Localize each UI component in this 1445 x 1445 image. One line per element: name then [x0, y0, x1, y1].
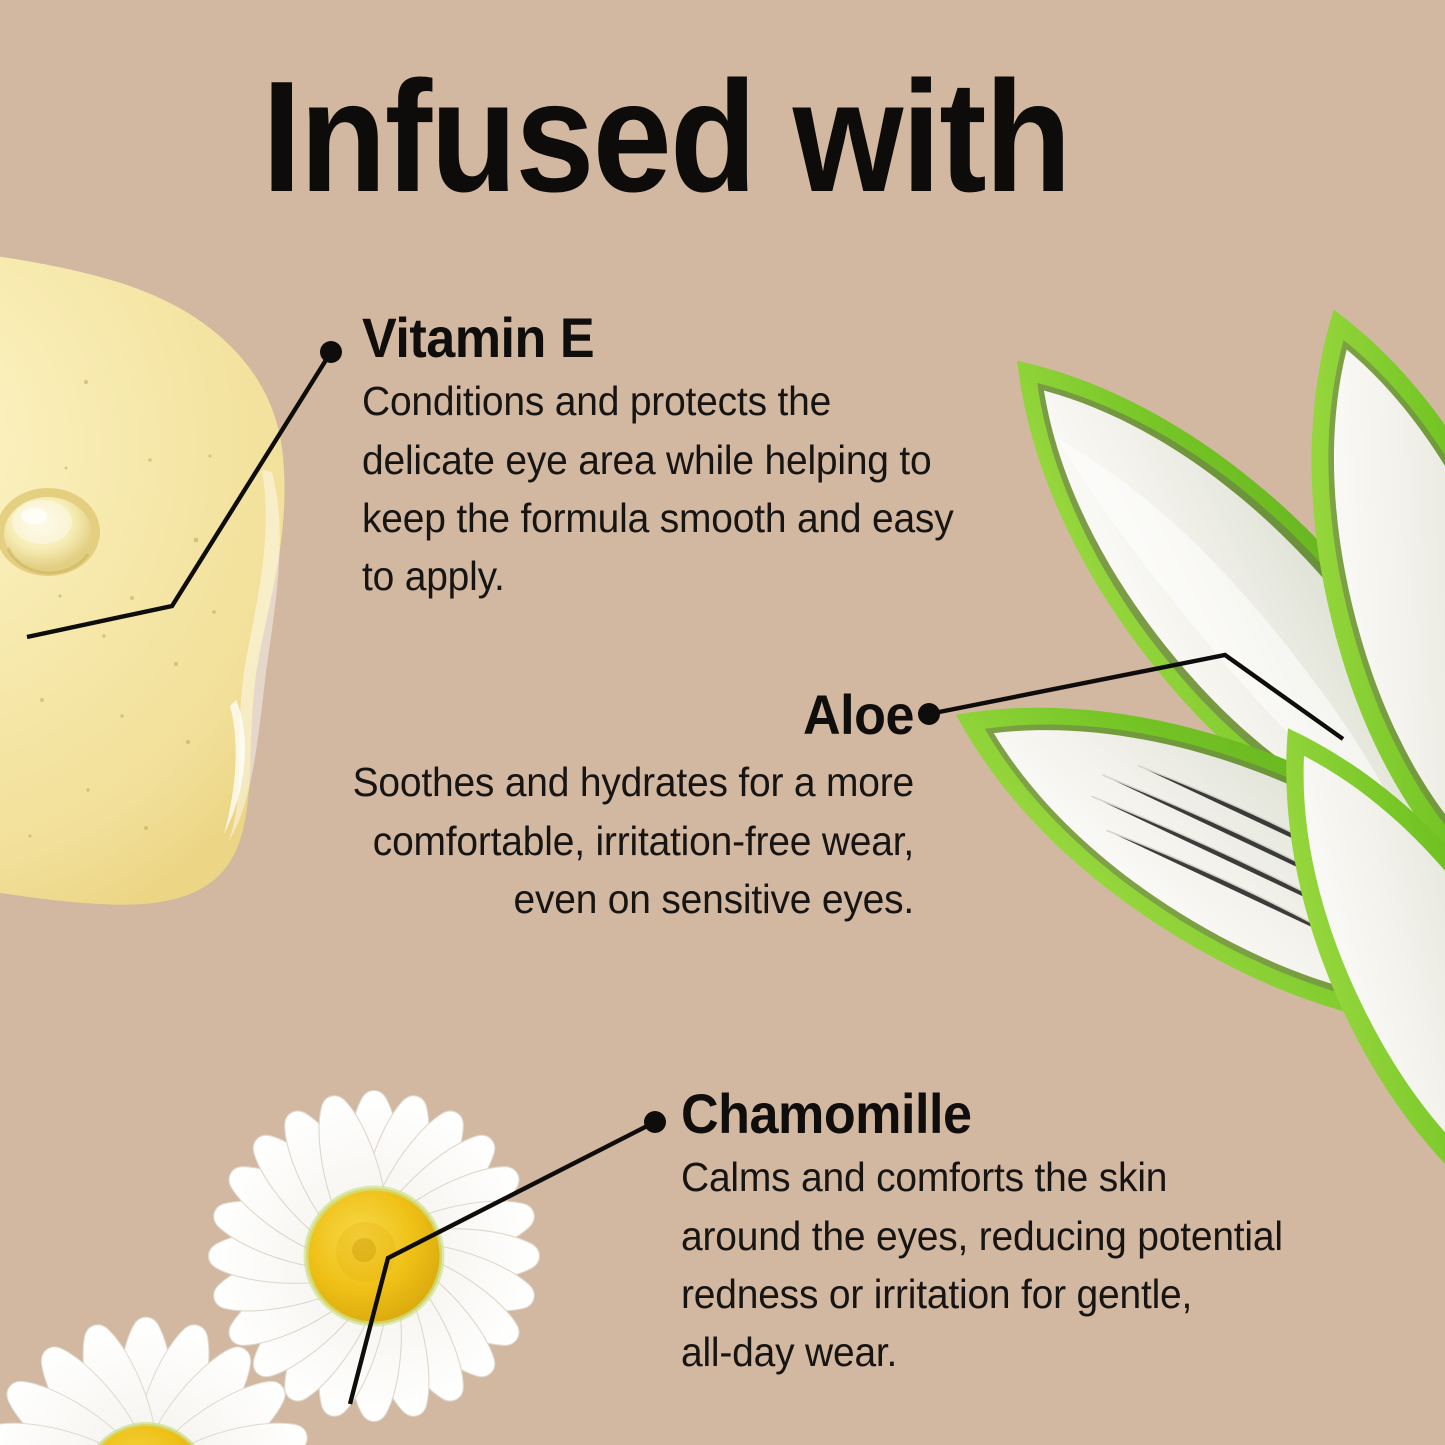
desc-line: redness or irritation for gentle, — [681, 1265, 1327, 1323]
vitamin-e-leader-dot — [320, 341, 342, 363]
ingredient-name-chamomille: Chamomille — [681, 1084, 1313, 1144]
desc-line: around the eyes, reducing potential — [681, 1207, 1327, 1265]
serum-drop-art — [0, 248, 285, 905]
desc-line: delicate eye area while helping to — [362, 431, 1008, 489]
page-title: Infused with — [262, 58, 1070, 216]
desc-line: Conditions and protects the — [362, 372, 1008, 430]
desc-line: comfortable, irritation-free wear, — [331, 812, 914, 870]
aloe-leader-dot — [918, 703, 940, 725]
ingredient-block-aloe: Aloe Soothes and hydrates for a more com… — [300, 685, 914, 928]
desc-line: all-day wear. — [681, 1323, 1327, 1381]
ingredient-description-aloe: Soothes and hydrates for a more comforta… — [331, 753, 914, 928]
desc-line: keep the formula smooth and easy — [362, 489, 1008, 547]
infused-with-infographic: Infused with Vitamin E Conditions and pr… — [0, 0, 1445, 1445]
chamomile-flowers-art — [0, 1089, 541, 1445]
chamomille-leader-dot — [644, 1111, 666, 1133]
ingredient-name-aloe: Aloe — [343, 685, 914, 745]
ingredient-block-chamomille: Chamomille Calms and comforts the skin a… — [681, 1084, 1361, 1381]
ingredient-name-vitamin-e: Vitamin E — [362, 308, 994, 368]
desc-line: even on sensitive eyes. — [331, 870, 914, 928]
ingredient-block-vitamin-e: Vitamin E Conditions and protects the de… — [362, 308, 1042, 605]
ingredient-description-vitamin-e: Conditions and protects the delicate eye… — [362, 372, 1008, 605]
ingredient-description-chamomille: Calms and comforts the skin around the e… — [681, 1148, 1327, 1381]
desc-line: Calms and comforts the skin — [681, 1148, 1327, 1206]
desc-line: Soothes and hydrates for a more — [331, 753, 914, 811]
desc-line: to apply. — [362, 547, 1008, 605]
serum-bubble — [0, 488, 100, 576]
